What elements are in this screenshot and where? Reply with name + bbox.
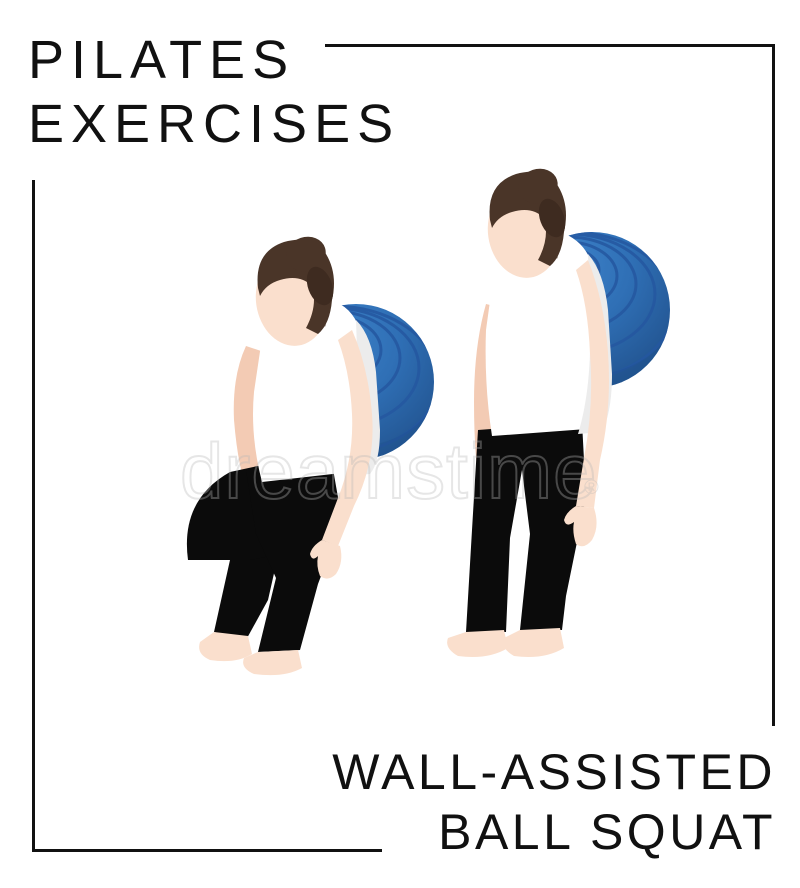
left-figure-hair-bun xyxy=(282,232,331,277)
left-figure-neck xyxy=(292,292,326,331)
frame-right-rule xyxy=(772,44,775,726)
right-figure-hair xyxy=(490,172,566,266)
right-figure-head xyxy=(482,181,566,282)
title-line-2: EXERCISES xyxy=(28,92,458,156)
left-figure-head xyxy=(250,249,334,350)
right-figure-hair-bun xyxy=(514,164,563,209)
stock-watermark: dreamstime ® xyxy=(180,425,620,525)
illustration-page: PILATES EXERCISES xyxy=(0,0,800,888)
watermark-text: dreamstime xyxy=(180,425,620,517)
right-figure-hair-nape xyxy=(534,195,570,241)
right-figure-neck xyxy=(524,224,558,263)
caption-line-1: WALL-ASSISTED xyxy=(156,742,776,802)
title-line-1: PILATES xyxy=(28,28,458,92)
left-figure-hair xyxy=(258,240,334,334)
left-figure-hair-nape xyxy=(302,263,338,309)
stability-ball-right xyxy=(466,232,674,388)
figure-stand xyxy=(447,164,674,657)
right-figure-shirt xyxy=(486,232,604,436)
frame-left-rule xyxy=(32,180,35,852)
right-figure-shirt-shadow xyxy=(578,254,612,434)
right-figure-left-foot xyxy=(447,630,508,657)
right-figure-right-foot xyxy=(503,628,564,657)
caption-line-2: BALL SQUAT xyxy=(156,802,776,862)
watermark-registered-mark: ® xyxy=(584,477,599,500)
left-figure-near-hand xyxy=(310,540,341,579)
exercise-caption: WALL-ASSISTED BALL SQUAT xyxy=(156,742,776,862)
left-figure-rear-foot xyxy=(199,632,252,661)
left-figure-front-foot xyxy=(243,650,302,675)
page-title: PILATES EXERCISES xyxy=(28,28,458,156)
